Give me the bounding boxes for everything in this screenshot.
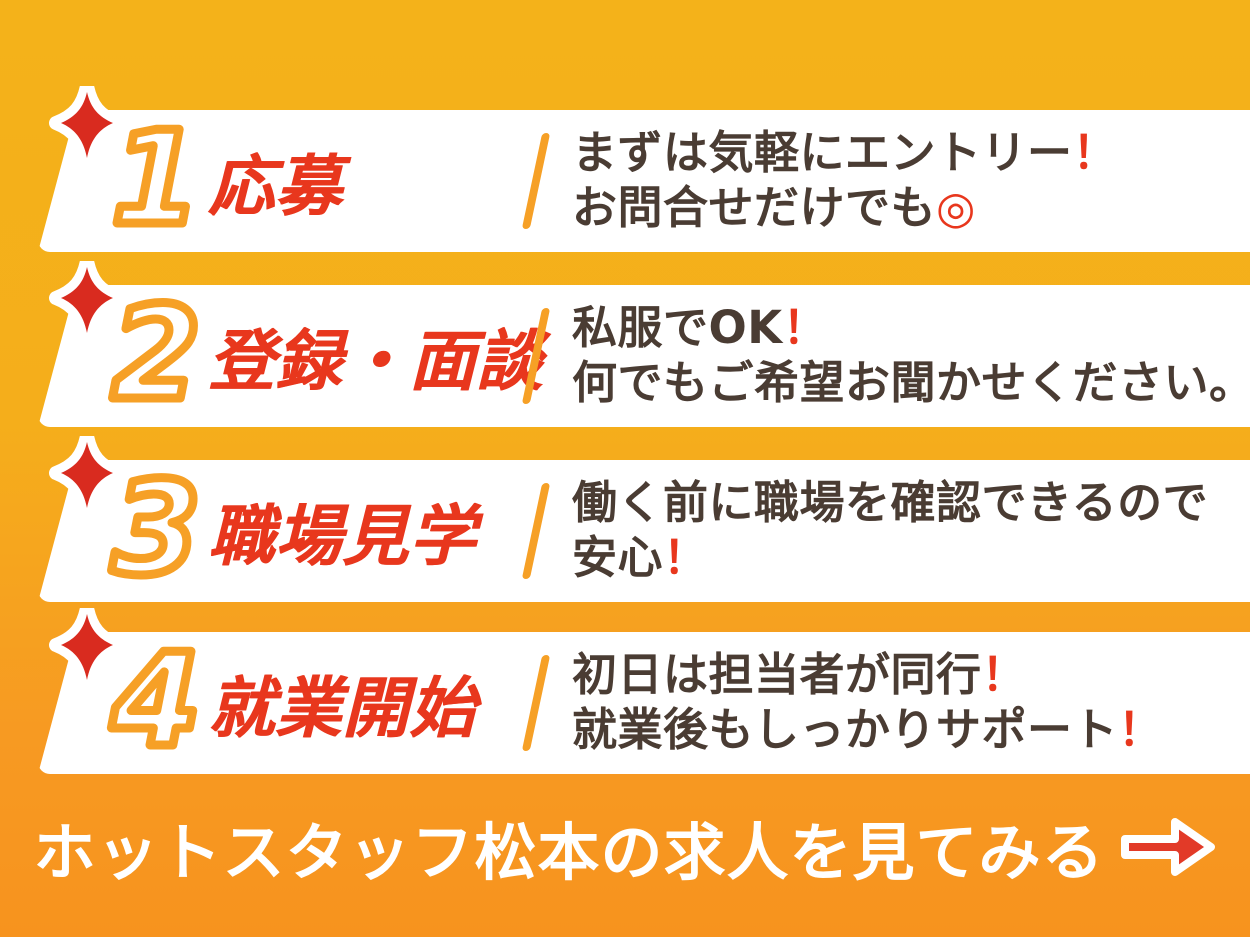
step-numeral-text: 3 — [111, 469, 200, 593]
step-numeral-text: 1 — [111, 119, 200, 243]
slash-divider — [522, 133, 550, 229]
step-numeral-text: 2 — [111, 294, 200, 418]
cta-text-wrap: ホットスタッフ松本の求人を見てみる — [33, 802, 1216, 892]
step-row-2: 2 登録・面談 私服でOK！ 何でもご希望お聞かせください。 — [0, 285, 1250, 427]
desc-line1: 私服でOK — [572, 301, 783, 354]
step-title: 登録・面談 — [208, 308, 543, 404]
step-title: 応募 — [208, 133, 342, 229]
cta-banner[interactable]: ホットスタッフ松本の求人を見てみる — [0, 757, 1250, 937]
desc-line2-mark: ！ — [663, 531, 709, 584]
step-title: 職場見学 — [208, 483, 476, 579]
step-row-3: 3 職場見学 働く前に職場を確認できるので 安心！ — [0, 460, 1250, 602]
desc-line1-mark: ！ — [982, 648, 1028, 701]
desc-line2: 安心 — [572, 531, 663, 584]
step-numeral: 3 — [100, 469, 212, 593]
desc-line1: 初日は担当者が同行 — [572, 648, 982, 701]
desc-line2-mark: ！ — [1118, 703, 1164, 756]
step-row-1: 1 応募 まずは気軽にエントリー！ お問合せだけでも◎ — [0, 110, 1250, 252]
cta-label: ホットスタッフ松本の求人を見てみる — [33, 802, 1104, 892]
step-numeral: 2 — [100, 294, 212, 418]
step-row-4: 4 就業開始 初日は担当者が同行！ 就業後もしっかりサポート！ — [0, 632, 1250, 774]
desc-line2: お問合せだけでも — [572, 181, 936, 234]
step-description: 初日は担当者が同行！ 就業後もしっかりサポート！ — [572, 648, 1164, 758]
step-description: 働く前に職場を確認できるので 安心！ — [572, 476, 1208, 586]
desc-line1: 働く前に職場を確認できるので — [572, 476, 1208, 529]
desc-line2-mark: ◎ — [936, 181, 976, 234]
step-numeral: 4 — [100, 641, 212, 765]
arrow-right-icon[interactable] — [1121, 812, 1217, 882]
step-description: まずは気軽にエントリー！ お問合せだけでも◎ — [572, 126, 1118, 236]
slash-divider — [522, 655, 550, 751]
desc-line2: 就業後もしっかりサポート — [572, 703, 1118, 756]
poster-root: 1 応募 まずは気軽にエントリー！ お問合せだけでも◎ — [0, 0, 1250, 937]
step-numeral: 1 — [100, 119, 212, 243]
desc-line1-mark: ！ — [783, 301, 829, 354]
step-numeral-text: 4 — [110, 641, 200, 765]
desc-line1: まずは気軽にエントリー — [572, 126, 1073, 179]
step-title: 就業開始 — [208, 655, 476, 751]
slash-divider — [522, 483, 550, 579]
desc-line2: 何でもご希望お聞かせください。 — [572, 356, 1250, 409]
desc-line1-mark: ！ — [1073, 126, 1119, 179]
step-description: 私服でOK！ 何でもご希望お聞かせください。 — [572, 301, 1250, 411]
